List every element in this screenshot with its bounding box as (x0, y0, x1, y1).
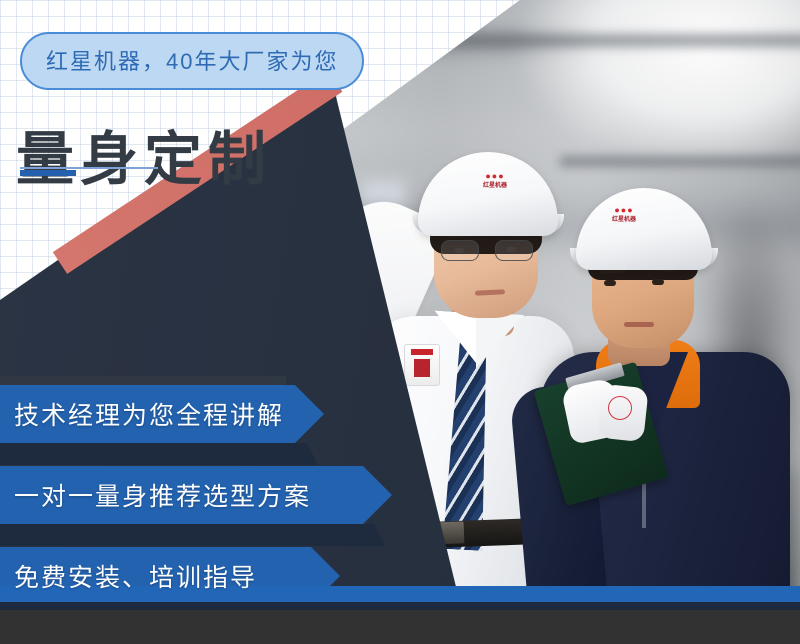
hardhat-logo: ●●● 红星机器 (602, 206, 646, 234)
feature-bar-1: 技术经理为您全程讲解 (0, 385, 324, 443)
hardhat-logo-text: 红星机器 (602, 217, 646, 223)
glove-logo (608, 396, 632, 420)
feature-bar-2-label: 一对一量身推荐选型方案 (0, 477, 311, 513)
promotional-banner: ●●● 红星机器 ●●● 红星机器 (0, 0, 800, 644)
mouth (624, 322, 654, 327)
feature-bar-1-label: 技术经理为您全程讲解 (0, 396, 284, 432)
eye (652, 279, 664, 285)
page-title: 量身定制 (16, 131, 272, 189)
feature-bar-3-label: 免费安装、培训指导 (0, 558, 257, 594)
feature-bar-2: 一对一量身推荐选型方案 (0, 466, 392, 524)
title-underline-thick (20, 170, 76, 176)
feature-bar-1-shadow (0, 443, 318, 465)
bottom-dark-band (0, 610, 800, 644)
eye (604, 280, 616, 286)
hardhat-logo-dots: ●●● (602, 206, 646, 215)
tagline-badge: 红星机器，40年大厂家为您 (20, 32, 364, 90)
feature-bar-2-shadow (0, 524, 385, 546)
title-underline-thin (20, 167, 158, 169)
